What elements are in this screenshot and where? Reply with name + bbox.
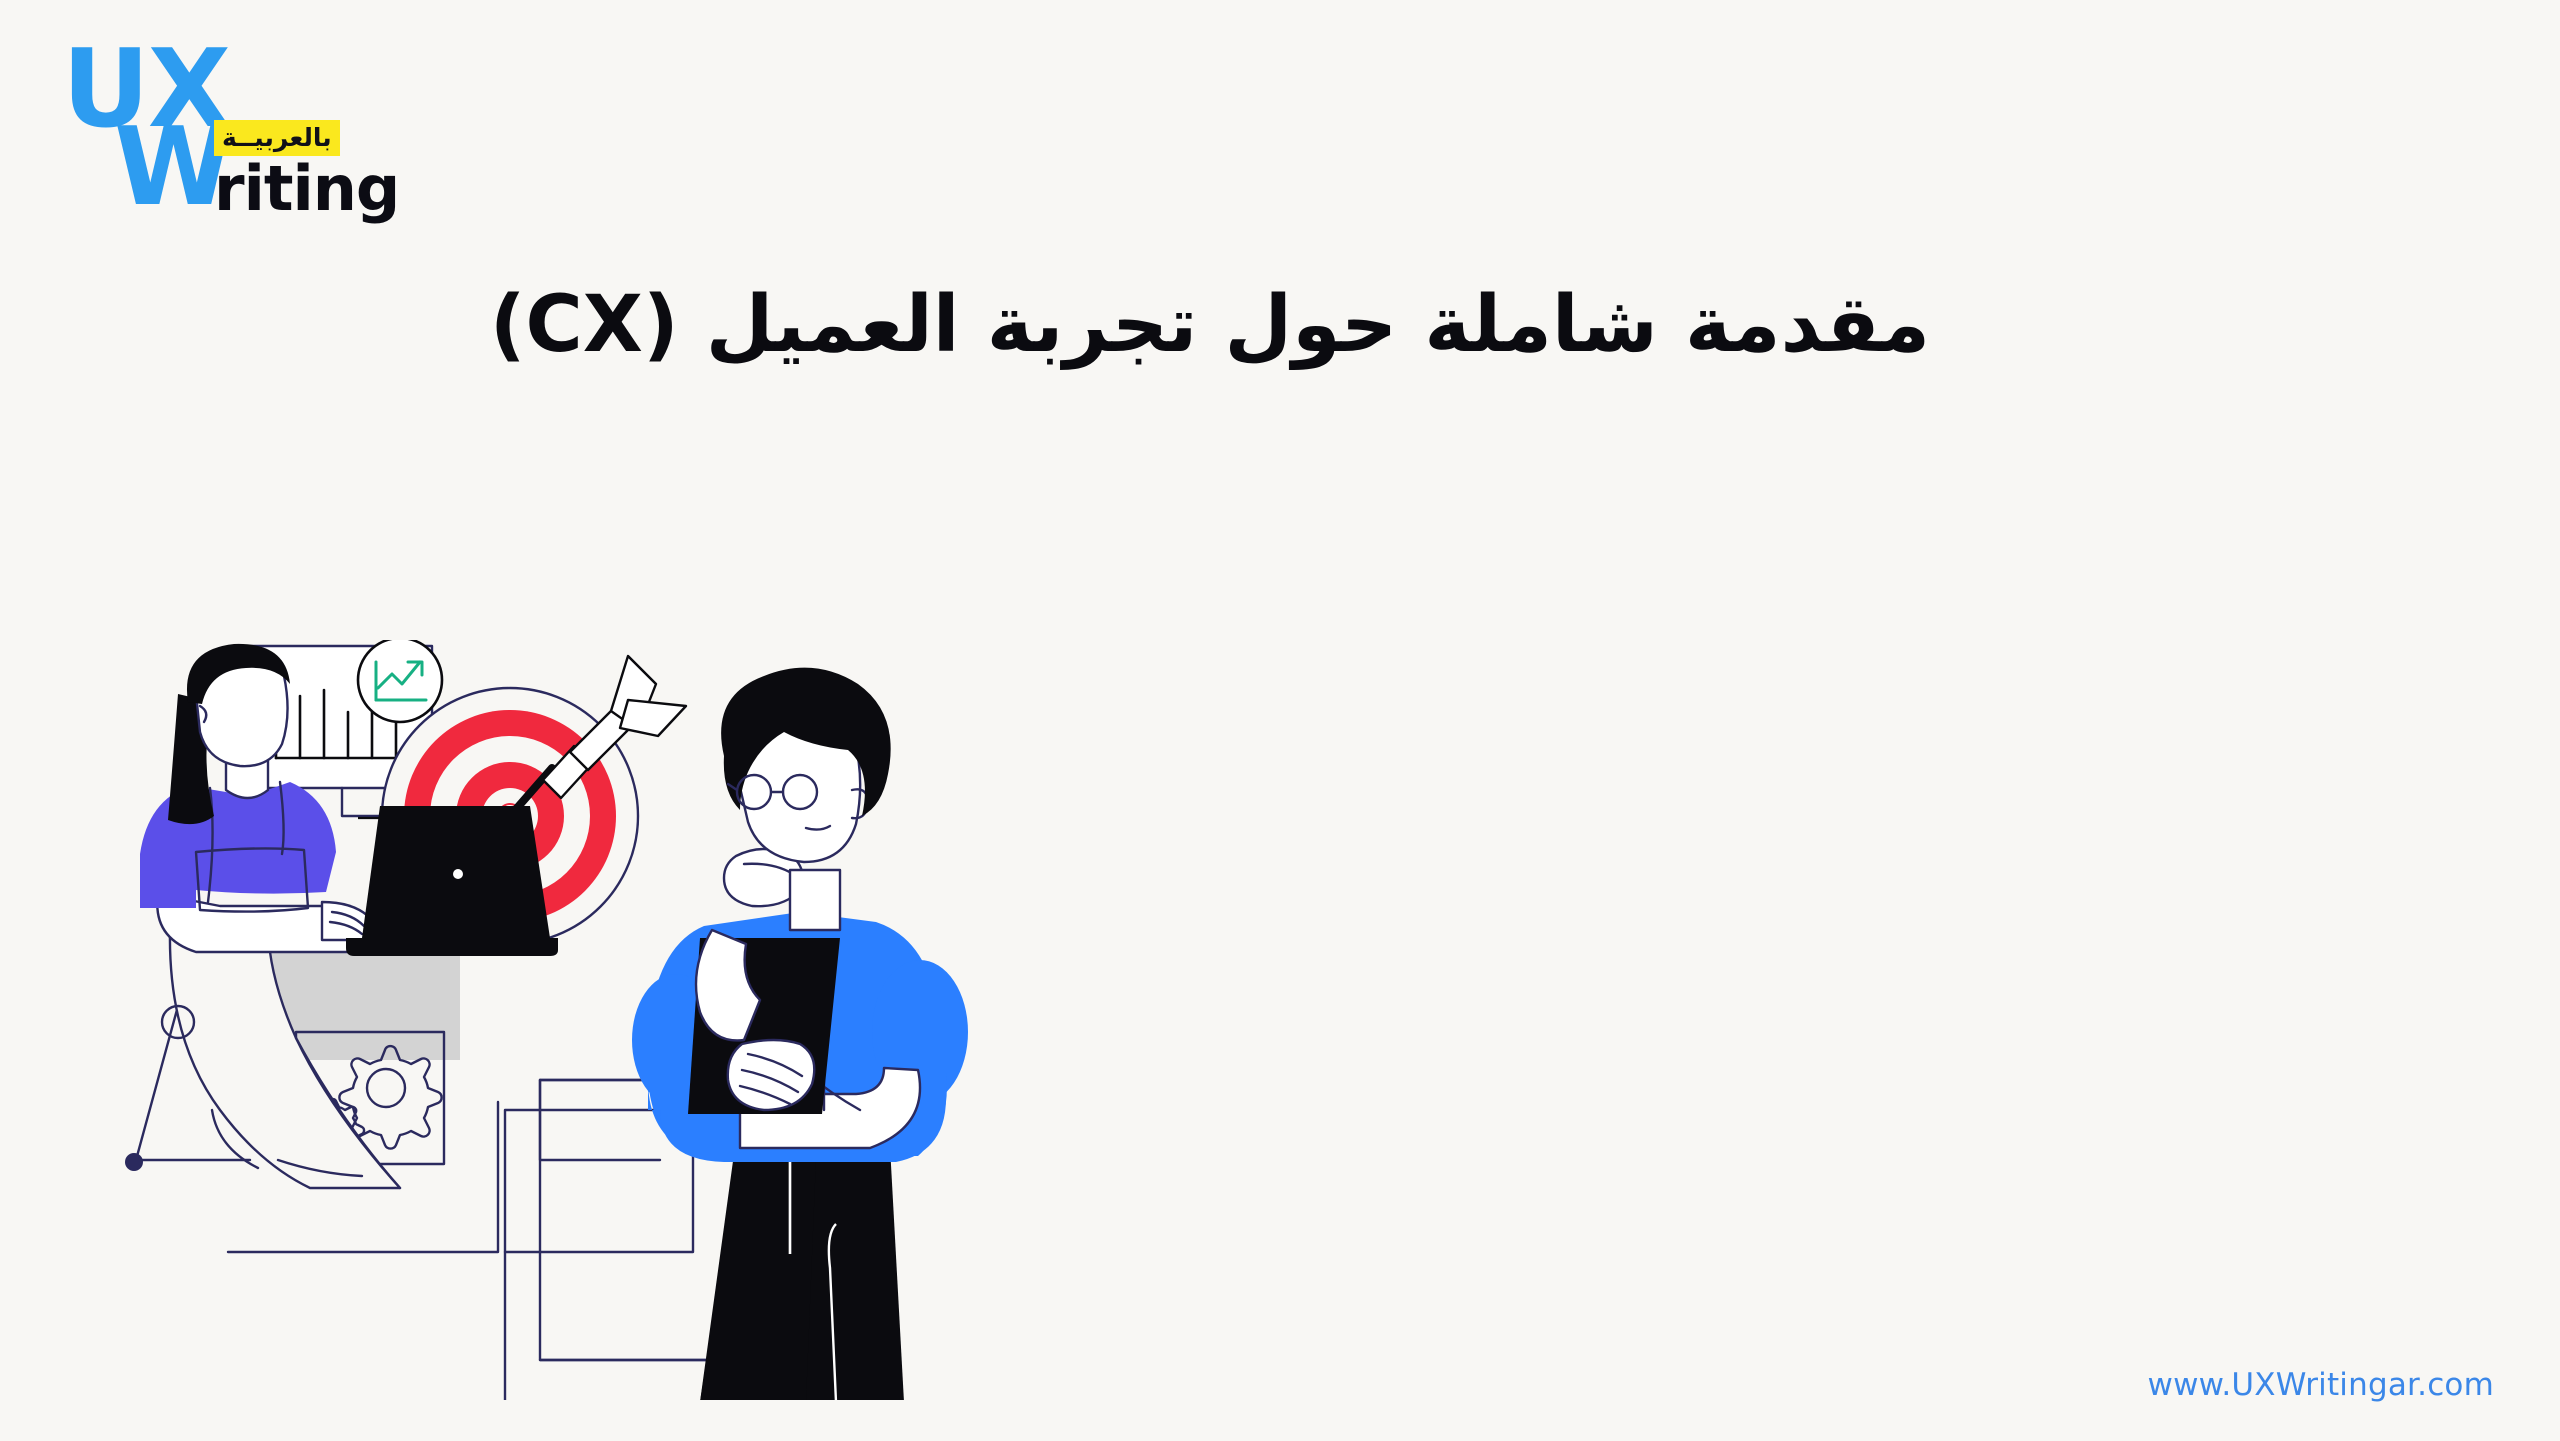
- cx-teamwork-target-illustration: .st{fill:none;stroke:#2B2A5E;stroke-widt…: [100, 640, 1180, 1400]
- website-url-link[interactable]: www.UXWritingar.com: [2148, 1367, 2494, 1403]
- logo-arabic-badge: بالعربيــة: [214, 120, 340, 156]
- page-title: مقدمة شاملة حول تجربة العميل (CX): [0, 280, 2560, 370]
- logo-riting-text: riting: [214, 158, 399, 220]
- trend-up-badge: [358, 640, 442, 722]
- uxwritingar-logo[interactable]: UX W بالعربيــة riting: [62, 40, 362, 220]
- man-with-tablet: [632, 668, 968, 1400]
- slide-canvas: UX W بالعربيــة riting مقدمة شاملة حول ت…: [0, 0, 2560, 1441]
